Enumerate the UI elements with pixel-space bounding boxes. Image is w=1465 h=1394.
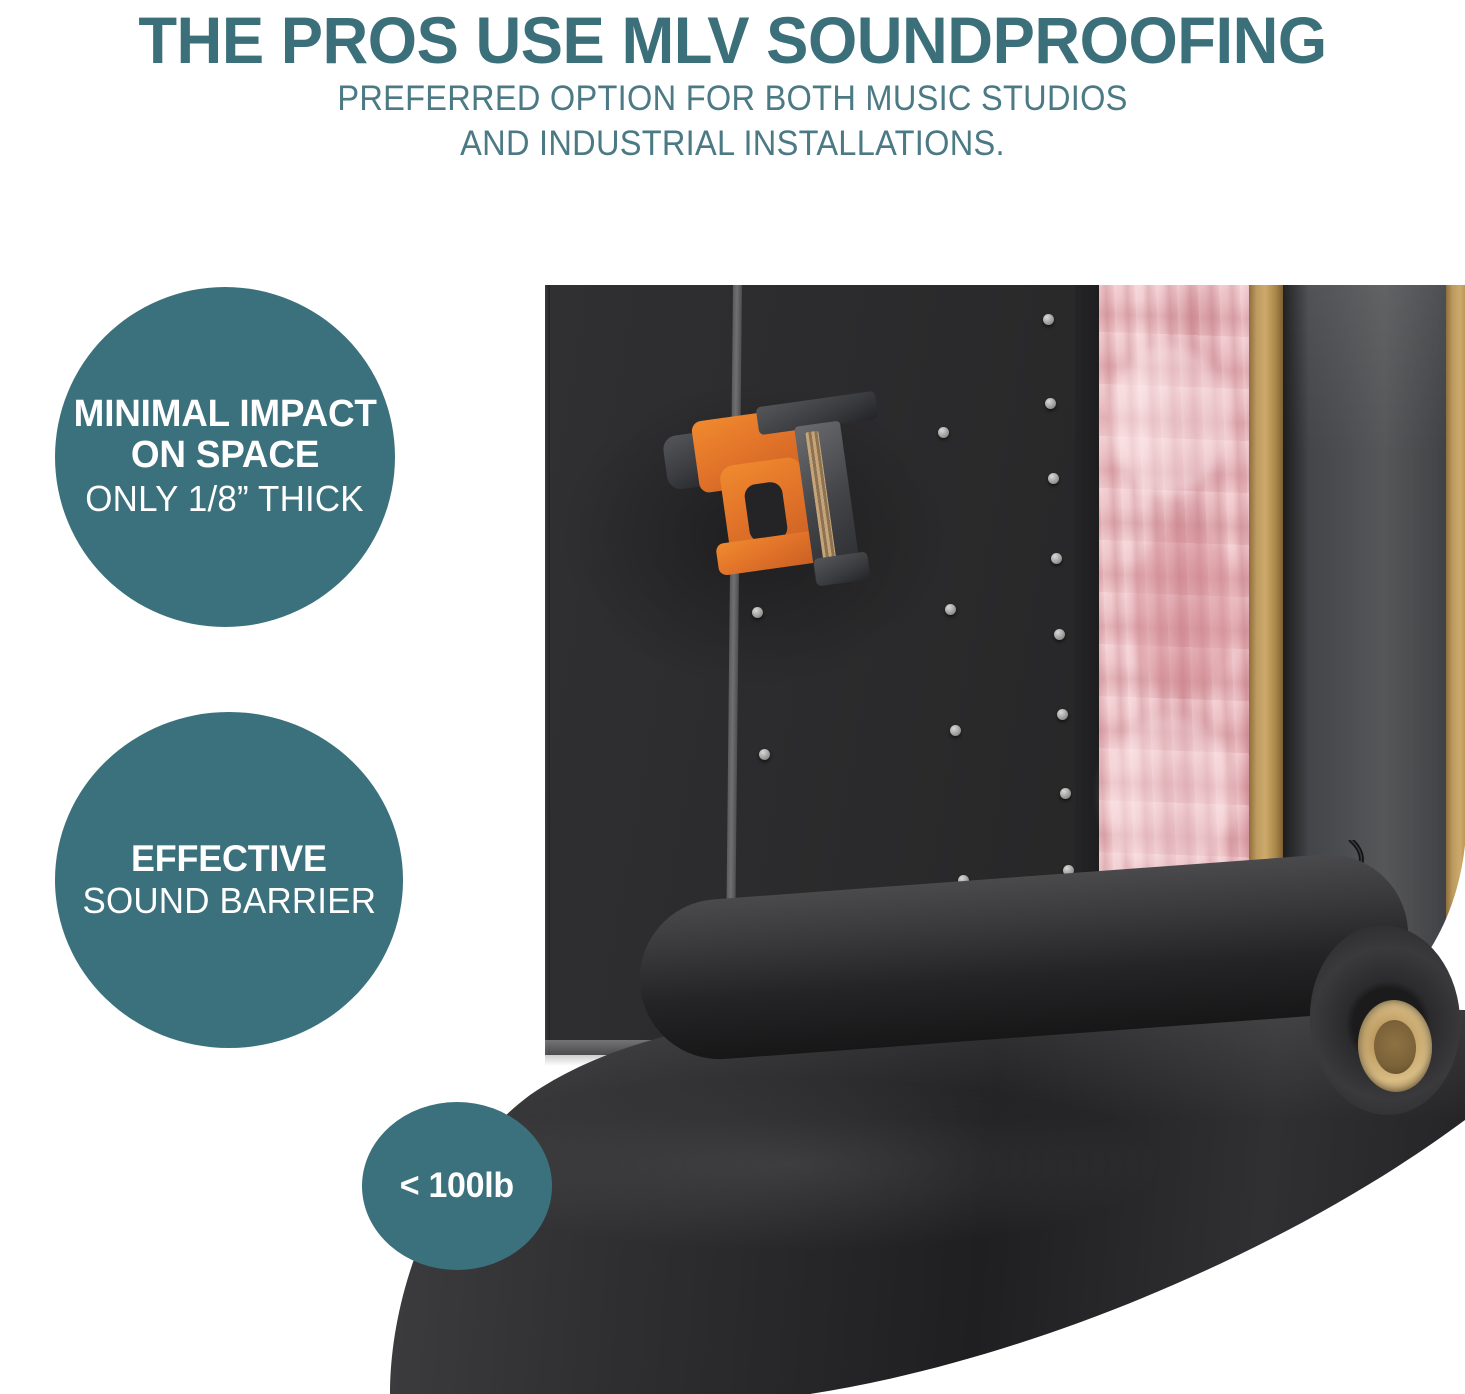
badge-title-line-1: MINIMAL IMPACT <box>73 394 376 435</box>
badge-subtitle: ONLY 1/8” THICK <box>86 478 364 520</box>
product-photo <box>0 0 1465 1394</box>
badge-title-line-1: < 100lb <box>400 1167 514 1205</box>
mlv-roll-group <box>0 0 1465 1394</box>
subtitle-line-1: PREFERRED OPTION FOR BOTH MUSIC STUDIOS <box>51 76 1413 121</box>
badge-minimal-impact: MINIMAL IMPACT ON SPACE ONLY 1/8” THICK <box>55 287 395 627</box>
badge-weight: < 100lb <box>362 1102 552 1270</box>
badge-subtitle: SOUND BARRIER <box>82 881 376 921</box>
subtitle-line-2: AND INDUSTRIAL INSTALLATIONS. <box>51 121 1413 166</box>
infographic-page: THE PROS USE MLV SOUNDPROOFING PREFERRED… <box>0 0 1465 1394</box>
page-title: THE PROS USE MLV SOUNDPROOFING <box>29 4 1435 76</box>
header: THE PROS USE MLV SOUNDPROOFING PREFERRED… <box>0 0 1465 166</box>
badge-title-line-1: EFFECTIVE <box>131 839 327 879</box>
badge-title-line-2: ON SPACE <box>131 435 319 476</box>
badge-effective-sound-barrier: EFFECTIVE SOUND BARRIER <box>55 712 403 1048</box>
mlv-unrolled-sheet <box>390 1000 1465 1394</box>
